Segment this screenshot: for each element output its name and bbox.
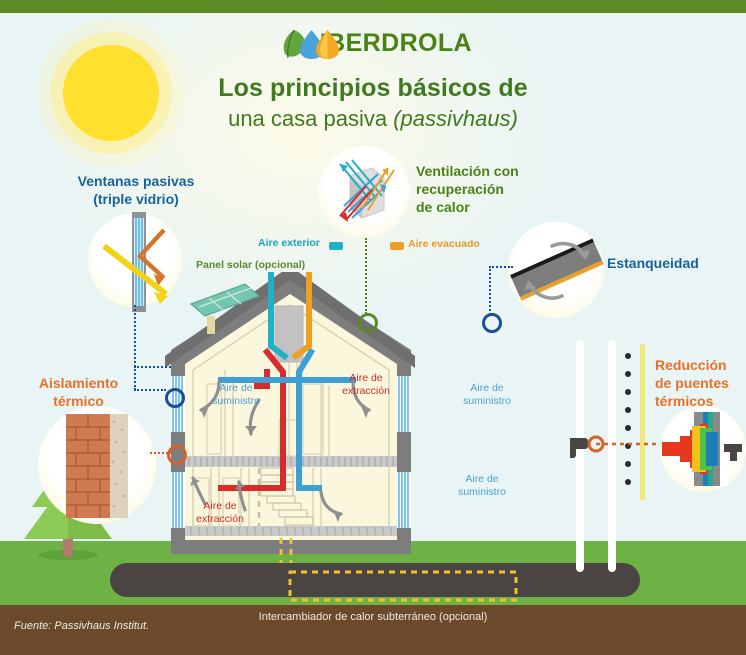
swatch-aire-evacuado (390, 242, 404, 251)
thermal-bridge-icon (660, 406, 746, 492)
callout-ventanas-line1: Ventanas pasivas (46, 173, 226, 191)
callout-ventilacion-line3: de calor (416, 199, 576, 217)
callout-label-ventanas: Ventanas pasivas (triple vidrio) (46, 173, 226, 209)
callout-label-estanqueidad: Estanqueidad (607, 255, 737, 273)
suministro-3-line1: Aire de (442, 473, 522, 486)
marker-insulation (167, 445, 187, 465)
page-title: Los principios básicos de (0, 74, 746, 103)
swatch-aire-exterior (329, 242, 343, 251)
connector-window-horizontal (134, 366, 171, 368)
marker-window (165, 388, 185, 408)
callout-label-ventilacion: Ventilación con recuperación de calor (416, 163, 576, 217)
label-aire-exterior: Aire exterior (258, 237, 320, 249)
triple-glazing-window-icon (88, 208, 188, 318)
label-aire-evacuado: Aire evacuado (408, 238, 480, 250)
page-subtitle-italic: (passivhaus) (393, 106, 518, 131)
connector-seal-vertical (489, 266, 491, 315)
interior-label-suministro-1: Aire de suministro (196, 382, 276, 408)
label-panel-solar: Panel solar (opcional) (196, 259, 305, 271)
ground-heat-exchanger-icon (288, 570, 518, 602)
connector-hrv (365, 238, 367, 314)
suministro-3-line2: suministro (442, 486, 522, 499)
marker-hrv (358, 313, 378, 333)
callout-puentes-line1: Reducción (655, 357, 746, 375)
heat-recovery-unit-icon (322, 150, 408, 236)
suministro-2-line1: Aire de (447, 382, 527, 395)
page-subtitle: una casa pasiva (passivhaus) (0, 106, 746, 132)
callout-ventanas-line2: (triple vidrio) (46, 191, 226, 209)
callout-label-puentes: Reducción de puentes térmicos (655, 357, 746, 411)
interior-label-suministro-3: Aire de suministro (442, 473, 522, 499)
connector-seal-horizontal (489, 266, 513, 268)
infographic-canvas: IBERDROLA Los principios básicos de una … (0, 0, 746, 655)
airtight-seal-icon (508, 222, 604, 318)
callout-aislamiento-line1: Aislamiento (16, 375, 141, 393)
interior-label-suministro-2: Aire de suministro (447, 382, 527, 408)
extraccion-2-line1: Aire de (184, 500, 256, 513)
suministro-1-line1: Aire de (196, 382, 276, 395)
callout-aislamiento-line2: térmico (16, 393, 141, 411)
top-green-bar (0, 0, 746, 13)
interior-label-extraccion-1: Aire de extracción (330, 372, 402, 398)
brick-insulation-icon (66, 414, 138, 518)
brand-logo: IBERDROLA (282, 24, 472, 62)
source-note: Fuente: Passivhaus Institut. (14, 620, 149, 632)
brand-wordmark: IBERDROLA (320, 29, 472, 58)
suministro-2-line2: suministro (447, 395, 527, 408)
callout-ventilacion-line2: recuperación (416, 181, 576, 199)
callout-estanqueidad-line1: Estanqueidad (607, 255, 737, 273)
suministro-1-line2: suministro (196, 395, 276, 408)
callout-label-aislamiento: Aislamiento térmico (16, 375, 141, 411)
logo-marks (282, 26, 314, 60)
flame-icon (315, 30, 340, 59)
callout-ventilacion-line1: Ventilación con (416, 163, 576, 181)
callout-puentes-line2: de puentes (655, 375, 746, 393)
extraccion-1-line1: Aire de (330, 372, 402, 385)
extraccion-2-line2: extracción (184, 513, 256, 526)
page-subtitle-prefix: una casa pasiva (228, 106, 393, 131)
connector-window-vertical (134, 305, 136, 367)
interior-label-extraccion-2: Aire de extracción (184, 500, 256, 526)
marker-seal (482, 313, 502, 333)
extraccion-1-line2: extracción (330, 385, 402, 398)
callout-puentes-line3: térmicos (655, 393, 746, 411)
